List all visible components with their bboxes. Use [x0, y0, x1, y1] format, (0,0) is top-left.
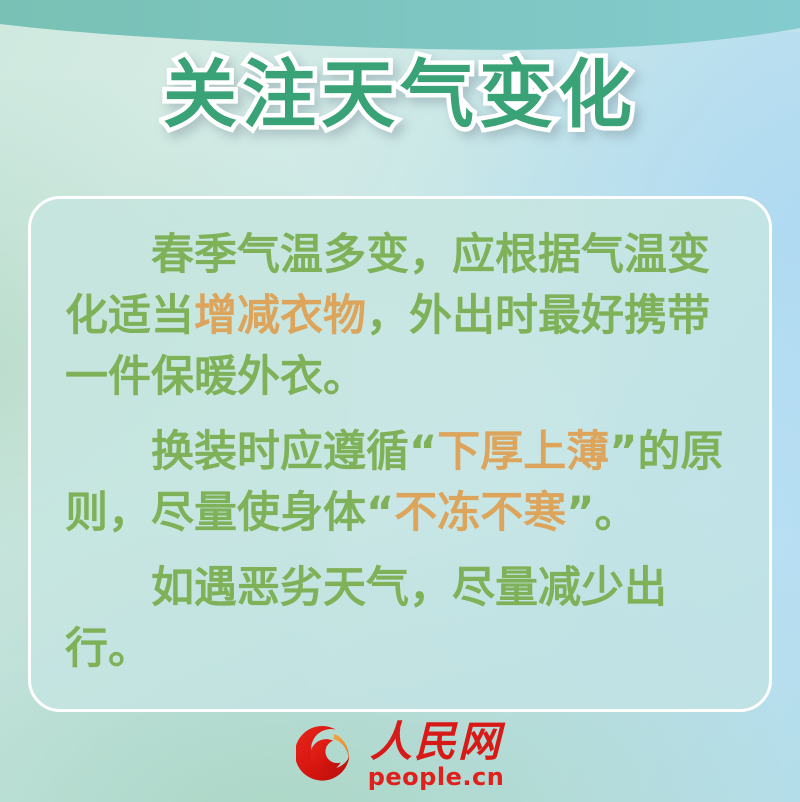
paragraph-2: 换装时应遵循“下厚上薄”的原则，尽量使身体“不冻不寒”。 [65, 422, 735, 544]
body-text: ”。 [566, 488, 637, 538]
page-title: 关注天气变化 [163, 58, 637, 132]
paragraph-1: 春季气温多变，应根据气温变化适当增减衣物，外出时最好携带一件保暖外衣。 [65, 225, 735, 408]
people-cn-swirl-icon [296, 724, 358, 786]
top-wave-decoration [0, 0, 800, 90]
content-card-inner: 春季气温多变，应根据气温变化适当增减衣物，外出时最好携带一件保暖外衣。 换装时应… [31, 199, 769, 709]
paragraph-3: 如遇恶劣天气，尽量减少出行。 [65, 558, 735, 680]
content-card: 春季气温多变，应根据气温变化适当增减衣物，外出时最好携带一件保暖外衣。 换装时应… [28, 196, 772, 712]
brand-name-en: people.cn [368, 765, 505, 789]
logo-text-block: 人民网 people.cn [368, 721, 505, 790]
body-text: 如遇恶劣天气，尽量减少出行。 [65, 563, 667, 674]
body-text: 换装时应遵循“ [151, 427, 437, 477]
highlight-text: 不冻不寒 [394, 488, 566, 538]
highlight-text: 下厚上薄 [437, 427, 609, 477]
poster-title-wrapper: 关注天气变化 [0, 58, 800, 132]
poster-root: 关注天气变化 春季气温多变，应根据气温变化适当增减衣物，外出时最好携带一件保暖外… [0, 0, 800, 802]
highlight-text: 增减衣物 [194, 291, 366, 341]
brand-name-cn: 人民网 [370, 721, 502, 764]
footer-logo: 人民网 people.cn [0, 714, 800, 796]
